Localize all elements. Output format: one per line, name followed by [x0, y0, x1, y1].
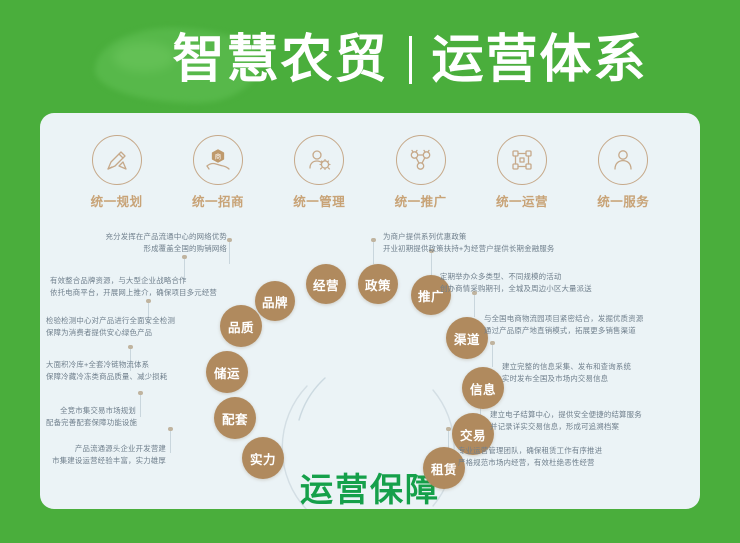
page-title: 智慧农贸 运营体系: [0, 24, 740, 96]
person-gear-icon: [294, 135, 344, 185]
note-line-2: 形成覆盖全国的购销网络: [65, 243, 227, 255]
stem-qudao: [474, 295, 475, 317]
note-pinzhi: 检验检测中心对产品进行全面安全检测 保障为消费者提供安心绿色产品: [46, 315, 142, 338]
stem-zhengce: [373, 242, 374, 264]
bubble-zhengce[interactable]: 政策: [358, 264, 398, 304]
icon-item-planning[interactable]: 统一规划: [72, 135, 162, 210]
note-shili: 产品流通源头企业开发营建 市集建设运营经验丰富，实力雄厚: [46, 443, 166, 466]
bubble-xinxi[interactable]: 信息: [462, 367, 504, 409]
note-line-2: 配备完善配套保障功能设施: [46, 417, 136, 429]
note-line-2: 保障为消费者提供安心绿色产品: [46, 327, 142, 339]
bubble-peitao[interactable]: 配套: [214, 397, 256, 439]
stem-peitao: [140, 395, 141, 417]
icon-item-operation[interactable]: 统一运营: [477, 135, 567, 210]
icon-item-service[interactable]: 统一服务: [578, 135, 668, 210]
stem-xinxi: [492, 345, 493, 367]
note-line-1: 建立完整的信息采集、发布和查询系统: [502, 361, 631, 373]
icon-item-promotion[interactable]: 统一推广: [376, 135, 466, 210]
bubble-pinpai[interactable]: 品牌: [255, 281, 295, 321]
icon-item-management[interactable]: 统一管理: [274, 135, 364, 210]
bubble-label: 品质: [228, 317, 254, 336]
note-line-1: 定期举办众多类型、不同规模的活动: [440, 271, 592, 283]
note-line-2: 严格规范市场内经营，有效杜绝恶性经营: [458, 457, 602, 469]
note-line-2: 实时发布全国及市场内交易信息: [502, 373, 631, 385]
hand-merchant-icon: 商: [193, 135, 243, 185]
icon-label: 统一招商: [192, 191, 244, 210]
title-left: 智慧农贸: [172, 29, 388, 91]
note-xinxi: 建立完整的信息采集、发布和查询系统 实时发布全国及市场内交易信息: [502, 361, 631, 384]
network-share-icon: [396, 135, 446, 185]
bubble-label: 实力: [250, 449, 276, 468]
bubble-label: 渠道: [454, 329, 480, 348]
note-chuyun: 大面积冷库+全套冷链物流体系 保障冷藏冷冻类商品质量、减少损耗: [46, 359, 126, 382]
icon-label: 统一服务: [597, 191, 649, 210]
note-line-2: 通过产品原产地直销模式，拓展更多销售渠道: [484, 325, 643, 337]
note-line-2: 创办商情采购期刊，全城及周边小区大量派送: [440, 283, 592, 295]
ruler-pencil-icon: [92, 135, 142, 185]
note-line-2: 并记录详实交易信息，形成可追溯档案: [490, 421, 642, 433]
note-line-1: 为商户提供系列优惠政策: [383, 231, 555, 243]
note-zhengce: 为商户提供系列优惠政策 开业初期提供政策扶持+为经营户提供长期金融服务: [383, 231, 555, 254]
bubble-label: 政策: [365, 275, 391, 294]
page-header: 智慧农贸 运营体系: [0, 0, 740, 113]
note-line-2: 开业初期提供政策扶持+为经营户提供长期金融服务: [383, 243, 555, 255]
title-right: 运营体系: [432, 29, 648, 91]
note-jingying: 充分发挥在产品流通中心的网络优势 形成覆盖全国的购销网络: [65, 231, 227, 254]
note-line-2: 保障冷藏冷冻类商品质量、减少损耗: [46, 371, 126, 383]
note-tuiguang: 定期举办众多类型、不同规模的活动 创办商情采购期刊，全城及周边小区大量派送: [440, 271, 592, 294]
note-pinpai: 有效整合品牌资源，与大型企业战略合作 依托电商平台，开展网上推介，确保项目多元经…: [50, 275, 178, 298]
note-jiaoyi: 建立电子结算中心，提供安全便捷的结算服务 并记录详实交易信息，形成可追溯档案: [490, 409, 642, 432]
bubble-label: 交易: [460, 425, 486, 444]
note-line-2: 市集建设运营经验丰富，实力雄厚: [46, 455, 166, 467]
note-line-1: 产品流通源头企业开发营建: [46, 443, 166, 455]
nodes-frame-icon: [497, 135, 547, 185]
unified-capability-row: 统一规划 商 统一招商: [40, 135, 700, 225]
bubble-qudao[interactable]: 渠道: [446, 317, 488, 359]
stem-jingying: [229, 242, 230, 264]
bubble-label: 品牌: [262, 292, 288, 311]
bubble-label: 租赁: [431, 459, 457, 478]
note-line-1: 有效整合品牌资源，与大型企业战略合作: [50, 275, 178, 287]
note-line-1: 建立电子结算中心，提供安全便捷的结算服务: [490, 409, 642, 421]
note-line-1: 全竞市集交易市场规划: [46, 405, 136, 417]
bubble-label: 储运: [214, 363, 240, 382]
bubble-pinzhi[interactable]: 品质: [220, 305, 262, 347]
title-divider: [409, 36, 412, 84]
note-zulin: 专业运营管理团队，确保租赁工作有序推进 严格规范市场内经营，有效杜绝恶性经营: [458, 445, 602, 468]
note-line-1: 与全国电商物流园项目紧密结合，发掘优质资源: [484, 313, 643, 325]
content-card: 统一规划 商 统一招商: [40, 113, 700, 509]
bubble-label: 配套: [222, 409, 248, 428]
icon-label: 统一规划: [91, 191, 143, 210]
icon-label: 统一运营: [496, 191, 548, 210]
stem-shili: [170, 431, 171, 453]
icon-label: 统一推广: [395, 191, 447, 210]
bubble-shili[interactable]: 实力: [242, 437, 284, 479]
icon-label: 统一管理: [293, 191, 345, 210]
bubble-jingying[interactable]: 经营: [306, 264, 346, 304]
note-line-2: 依托电商平台，开展网上推介，确保项目多元经营: [50, 287, 178, 299]
note-line-1: 检验检测中心对产品进行全面安全检测: [46, 315, 142, 327]
bubble-label: 经营: [313, 275, 339, 294]
bubble-chuyun[interactable]: 储运: [206, 351, 248, 393]
note-line-1: 充分发挥在产品流通中心的网络优势: [65, 231, 227, 243]
note-line-1: 专业运营管理团队，确保租赁工作有序推进: [458, 445, 602, 457]
icon-item-investment[interactable]: 商 统一招商: [173, 135, 263, 210]
bubble-label: 信息: [470, 379, 496, 398]
stem-tuiguang: [431, 253, 432, 275]
person-service-icon: [598, 135, 648, 185]
svg-text:商: 商: [215, 152, 222, 161]
note-qudao: 与全国电商物流园项目紧密结合，发掘优质资源 通过产品原产地直销模式，拓展更多销售…: [484, 313, 643, 336]
note-line-1: 大面积冷库+全套冷链物流体系: [46, 359, 126, 371]
note-peitao: 全竞市集交易市场规划 配备完善配套保障功能设施: [46, 405, 136, 428]
